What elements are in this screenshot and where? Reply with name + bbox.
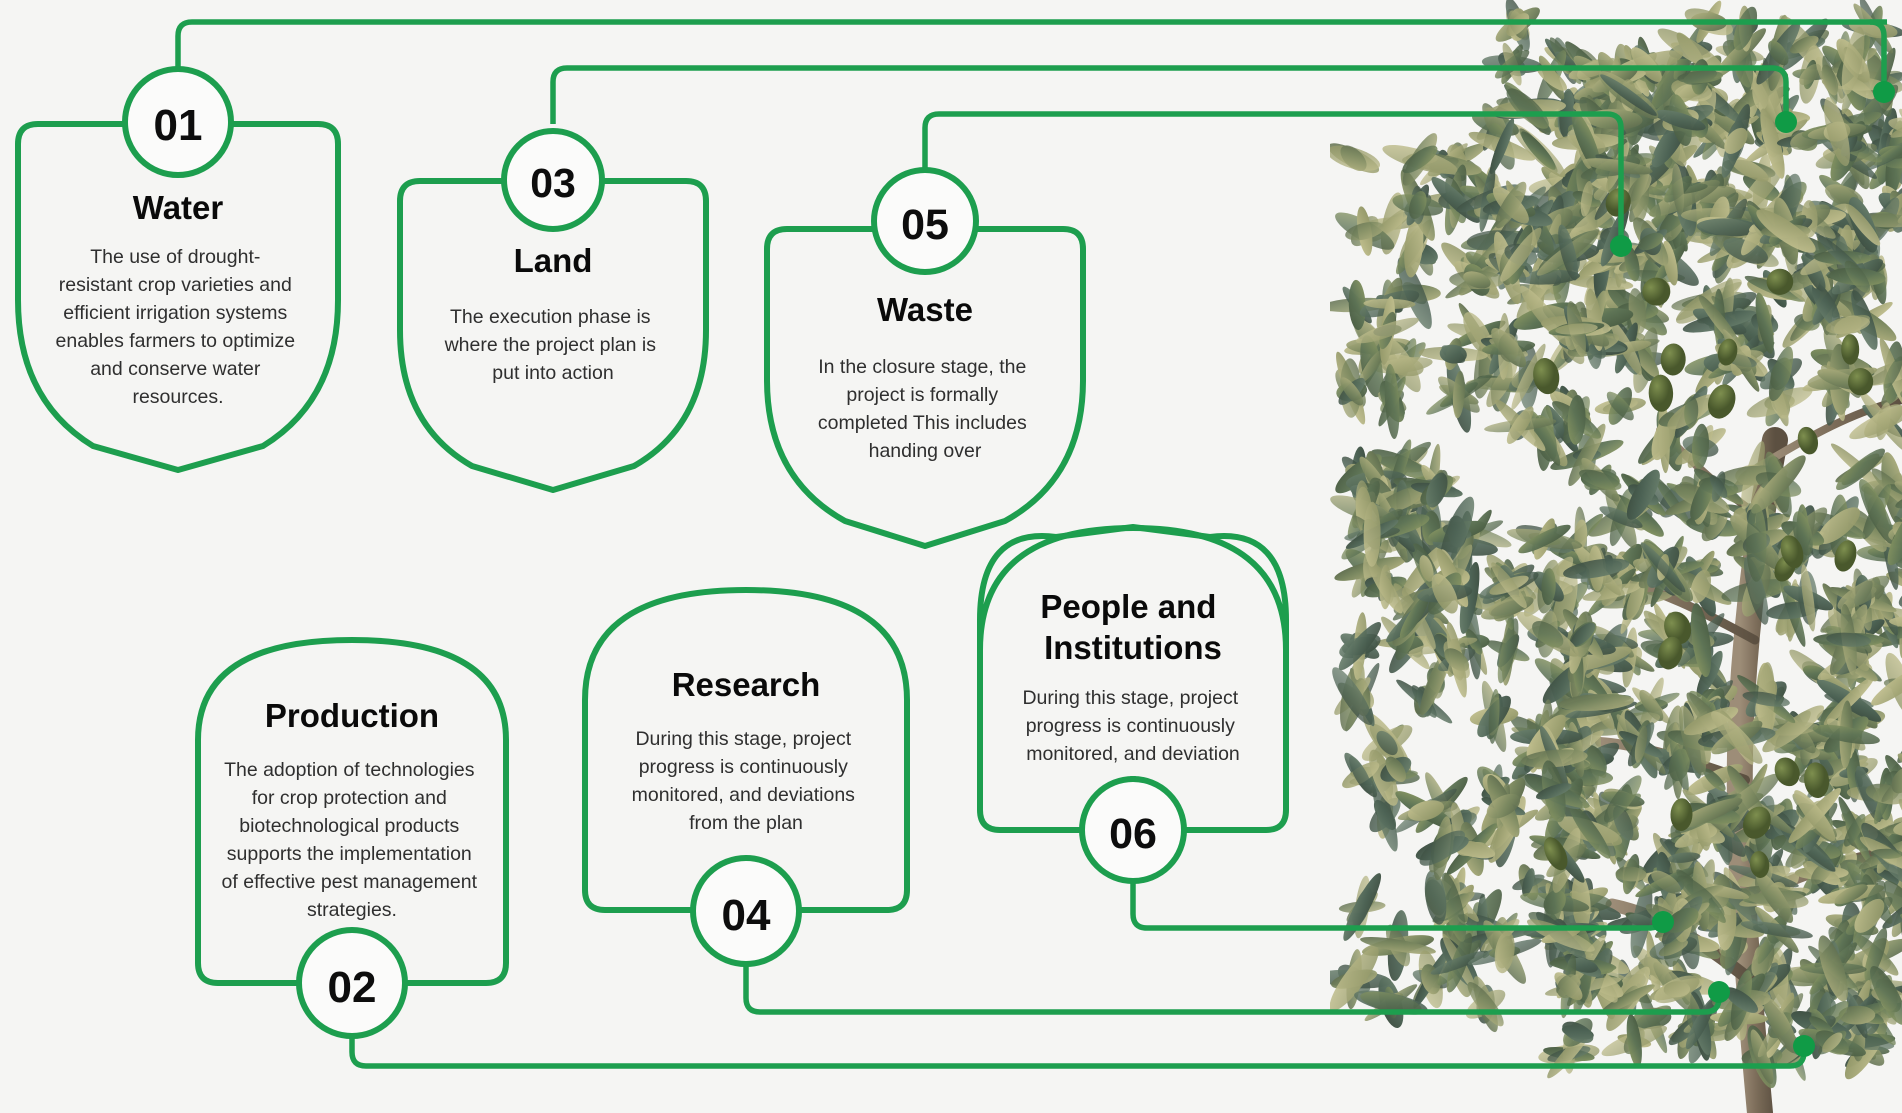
card-land-body: The execution phase is where the project… [444,306,662,384]
card-land[interactable]: 03 Land The execution phase is where the… [400,131,706,490]
card-waste-number: 05 [901,201,949,249]
card-water-title: Water [133,189,224,226]
card-water[interactable]: 01 Water The use of drought- resistant c… [18,69,338,470]
card-production-body: The adoption of technologies for crop pr… [222,759,483,921]
infographic-canvas: 01 Water The use of drought- resistant c… [0,0,1902,1113]
card-land-number: 03 [530,160,576,206]
card-people-number: 06 [1109,810,1157,858]
card-water-body: The use of drought- resistant crop varie… [56,246,301,408]
endpoint-dot-04 [1708,981,1730,1003]
card-production-number: 02 [328,963,377,1012]
card-people-title: People and Institutions [1040,588,1225,666]
endpoint-dot-06 [1652,911,1674,933]
endpoint-dot-05 [1610,235,1632,257]
card-production[interactable]: 02 Production The adoption of technologi… [198,640,506,1036]
card-people-body: During this stage, project progress is c… [1022,687,1243,765]
card-people-institutions[interactable]: 06 People and Institutions During this s… [980,527,1286,881]
card-production-title: Production [265,697,439,734]
card-waste-title: Waste [877,291,973,328]
card-water-number: 01 [154,101,203,150]
process-diagram: 01 Water The use of drought- resistant c… [0,0,1902,1113]
card-research-number: 04 [722,891,771,940]
card-waste-body: In the closure stage, the project is for… [818,356,1032,462]
card-land-title: Land [514,242,593,279]
card-waste[interactable]: 05 Waste In the closure stage, the proje… [767,170,1083,546]
endpoint-dot-02 [1793,1035,1815,1057]
card-research[interactable]: 04 Research During this stage, project p… [585,590,907,964]
card-research-body: During this stage, project progress is c… [632,728,861,834]
endpoint-dot-01 [1873,81,1895,103]
endpoint-dot-03 [1775,111,1797,133]
card-research-title: Research [672,666,821,703]
